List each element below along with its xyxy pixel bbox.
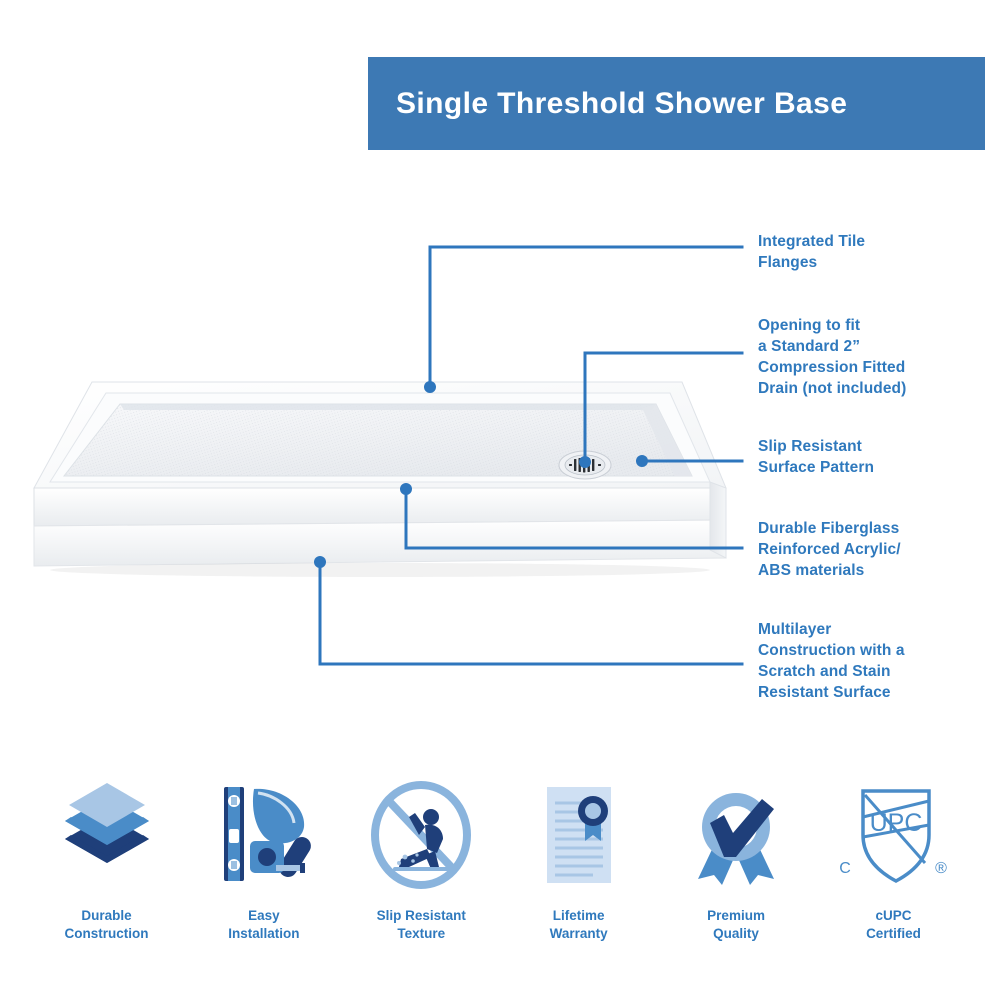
shower-base-svg: [20, 360, 730, 600]
callout-integrated-tile-flanges: Integrated Tile Flanges: [758, 231, 865, 273]
level-trowel-icon: [204, 775, 324, 895]
drain-grate: [559, 451, 611, 479]
feature-easy-installation: Easy Installation: [191, 775, 336, 975]
layers-icon: [47, 775, 167, 895]
feature-slip-resistant-texture: Slip Resistant Texture: [349, 775, 494, 975]
upc-right-mark: ®: [936, 860, 948, 877]
feature-label: Durable Construction: [65, 907, 149, 943]
upc-shield-icon: UPC C ®: [833, 775, 953, 895]
infographic-root: Single Threshold Shower Base: [0, 0, 1000, 1000]
feature-label: Lifetime Warranty: [550, 907, 608, 943]
no-slip-icon: [361, 775, 481, 895]
header-banner: Single Threshold Shower Base: [368, 57, 985, 150]
check-ribbon-icon: [676, 775, 796, 895]
feature-label: Easy Installation: [228, 907, 299, 943]
feature-label: Slip Resistant Texture: [377, 907, 466, 943]
feature-badge-row: Durable Construction: [0, 775, 1000, 975]
feature-label: cUPC Certified: [866, 907, 921, 943]
product-illustration: [20, 360, 730, 600]
feature-label: Premium Quality: [707, 907, 765, 943]
callout-slip-resistant-surface-pattern: Slip Resistant Surface Pattern: [758, 436, 874, 478]
feature-durable-construction: Durable Construction: [34, 775, 179, 975]
feature-premium-quality: Premium Quality: [664, 775, 809, 975]
upc-left-mark: C: [840, 860, 852, 877]
feature-cupc-certified: UPC C ® cUPC Certified: [821, 775, 966, 975]
callout-durable-fiberglass-materials: Durable Fiberglass Reinforced Acrylic/ A…: [758, 518, 901, 581]
feature-lifetime-warranty: Lifetime Warranty: [506, 775, 651, 975]
callout-multilayer-construction: Multilayer Construction with a Scratch a…: [758, 619, 905, 703]
certificate-icon: [519, 775, 639, 895]
page-title: Single Threshold Shower Base: [396, 87, 847, 121]
upc-letters: UPC: [870, 809, 923, 837]
callout-drain-opening: Opening to fit a Standard 2” Compression…: [758, 315, 906, 399]
